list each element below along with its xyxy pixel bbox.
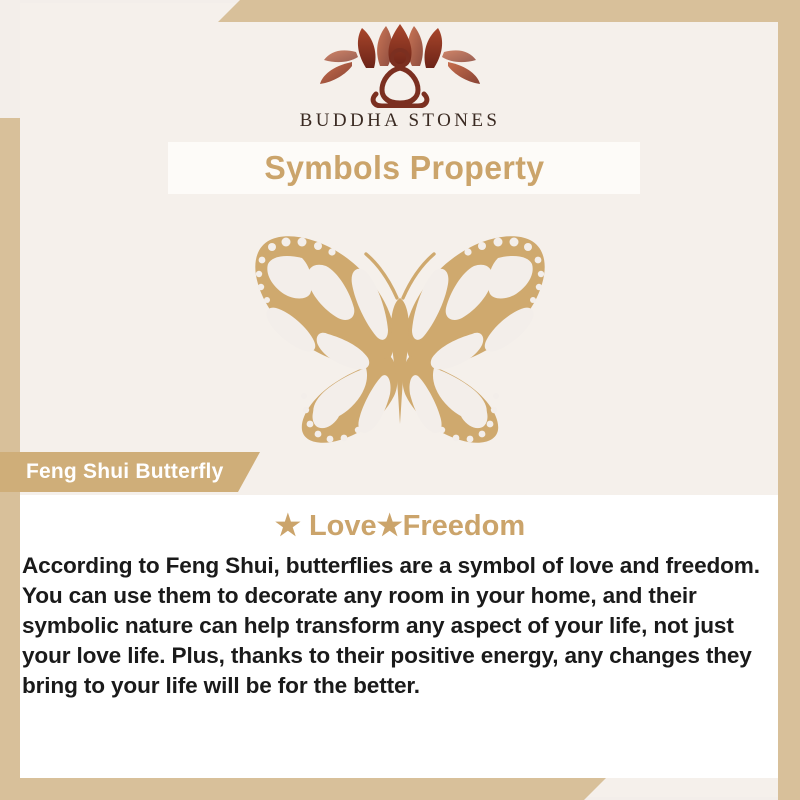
poster-root: BUDDHA STONES Symbols Property [0,0,800,800]
title-banner: Symbols Property [168,142,640,194]
ribbon-label: Feng Shui Butterfly [26,460,223,484]
butterfly-icon [214,224,586,450]
page-title: Symbols Property [264,149,544,187]
lotus-meditation-icon [312,22,488,108]
gold-band-top [218,0,800,22]
feng-shui-ribbon: Feng Shui Butterfly [0,452,260,492]
brand-logo: BUDDHA STONES [0,22,800,142]
brand-name: BUDDHA STONES [300,110,501,132]
subheading: ★ Love★Freedom [20,508,780,543]
body-paragraph: According to Feng Shui, butterflies are … [22,551,782,701]
butterfly-illustration [0,222,800,452]
gold-band-bottom [0,778,606,800]
